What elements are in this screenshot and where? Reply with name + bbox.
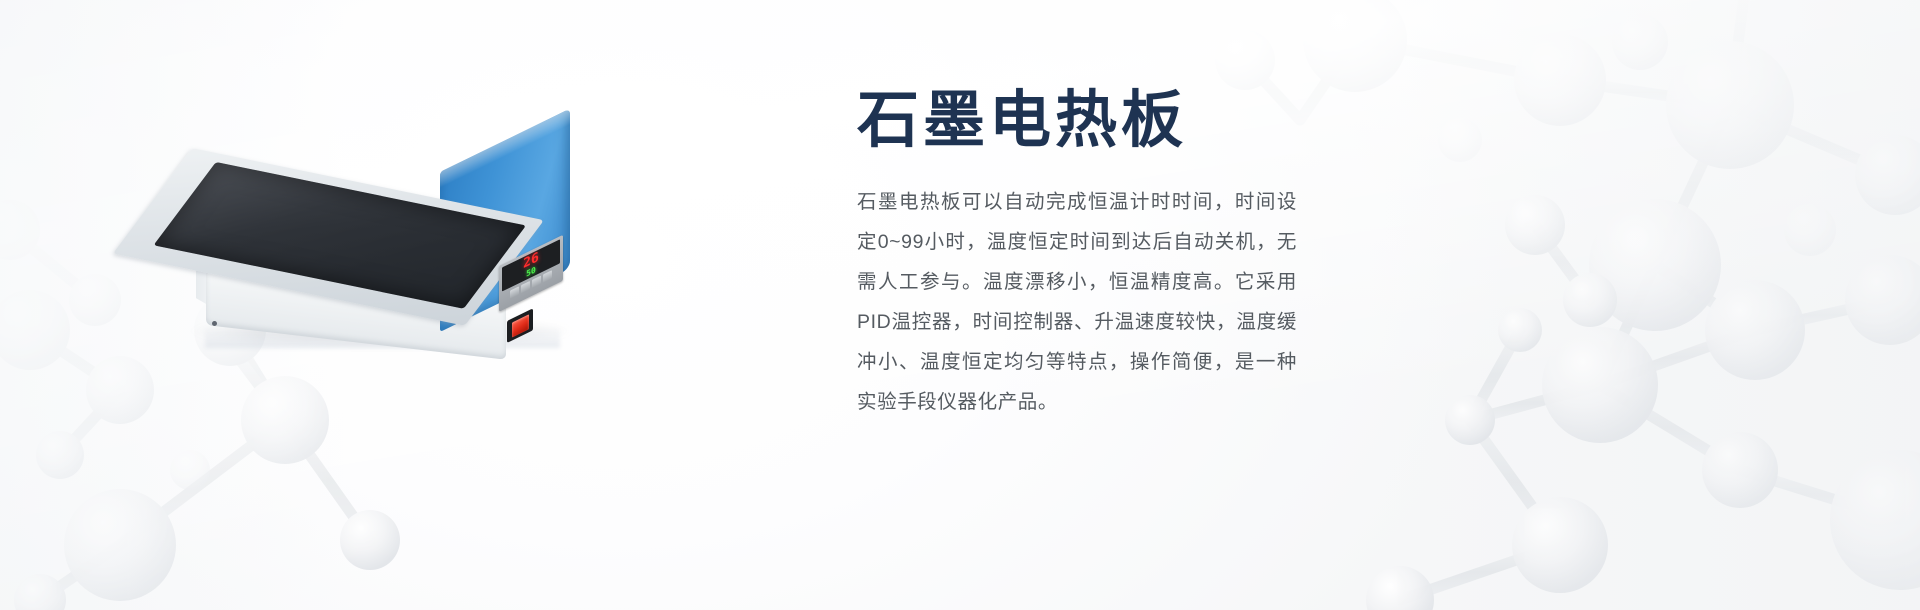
display-readouts: 26 50 (523, 251, 539, 281)
controller-button-set[interactable] (510, 286, 519, 298)
controller-button-up[interactable] (543, 270, 552, 282)
copy-block: 石墨电热板 石墨电热板可以自动完成恒温计时时间，时间设定0~99小时，温度恒定时… (857, 88, 1327, 423)
promo-banner: 26 50 石墨电热板 石墨电热板可以自动完成恒温计时时间，时间设定0~99小时… (0, 0, 1920, 610)
blue-top-highlight (440, 109, 570, 188)
product-image: 26 50 (150, 100, 620, 390)
setpoint-readout: 50 (526, 266, 536, 279)
controller-button-shift[interactable] (521, 281, 530, 293)
housing-foot (212, 321, 217, 326)
controller-button-down[interactable] (532, 276, 541, 288)
page-title: 石墨电热板 (857, 88, 1327, 155)
product-description: 石墨电热板可以自动完成恒温计时时间，时间设定0~99小时，温度恒定时间到达后自动… (857, 183, 1297, 423)
